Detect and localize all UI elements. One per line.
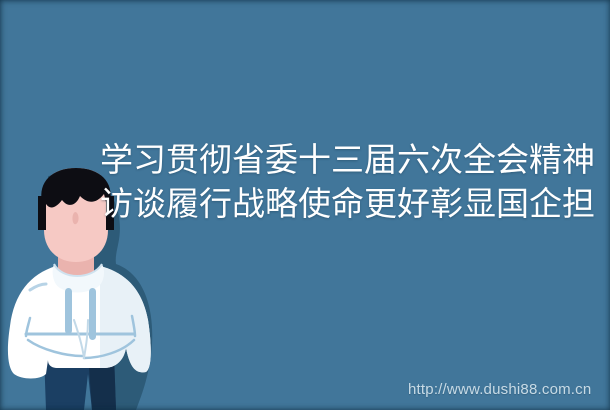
drawstring-left bbox=[65, 288, 72, 334]
headline-line-1: 学习贯彻省委十三届六次全会精神 bbox=[100, 138, 610, 182]
headline-line-2: 访谈履行战略使命更好彰显国企担 bbox=[100, 182, 610, 226]
watermark-url: http://www.dushi88.com.cn bbox=[408, 381, 591, 399]
image-canvas: 学习贯彻省委十三届六次全会精神 访谈履行战略使命更好彰显国企担 http://w… bbox=[0, 0, 610, 410]
headline: 学习贯彻省委十三届六次全会精神 访谈履行战略使命更好彰显国企担 bbox=[100, 138, 610, 226]
drawstring-right bbox=[89, 288, 96, 340]
